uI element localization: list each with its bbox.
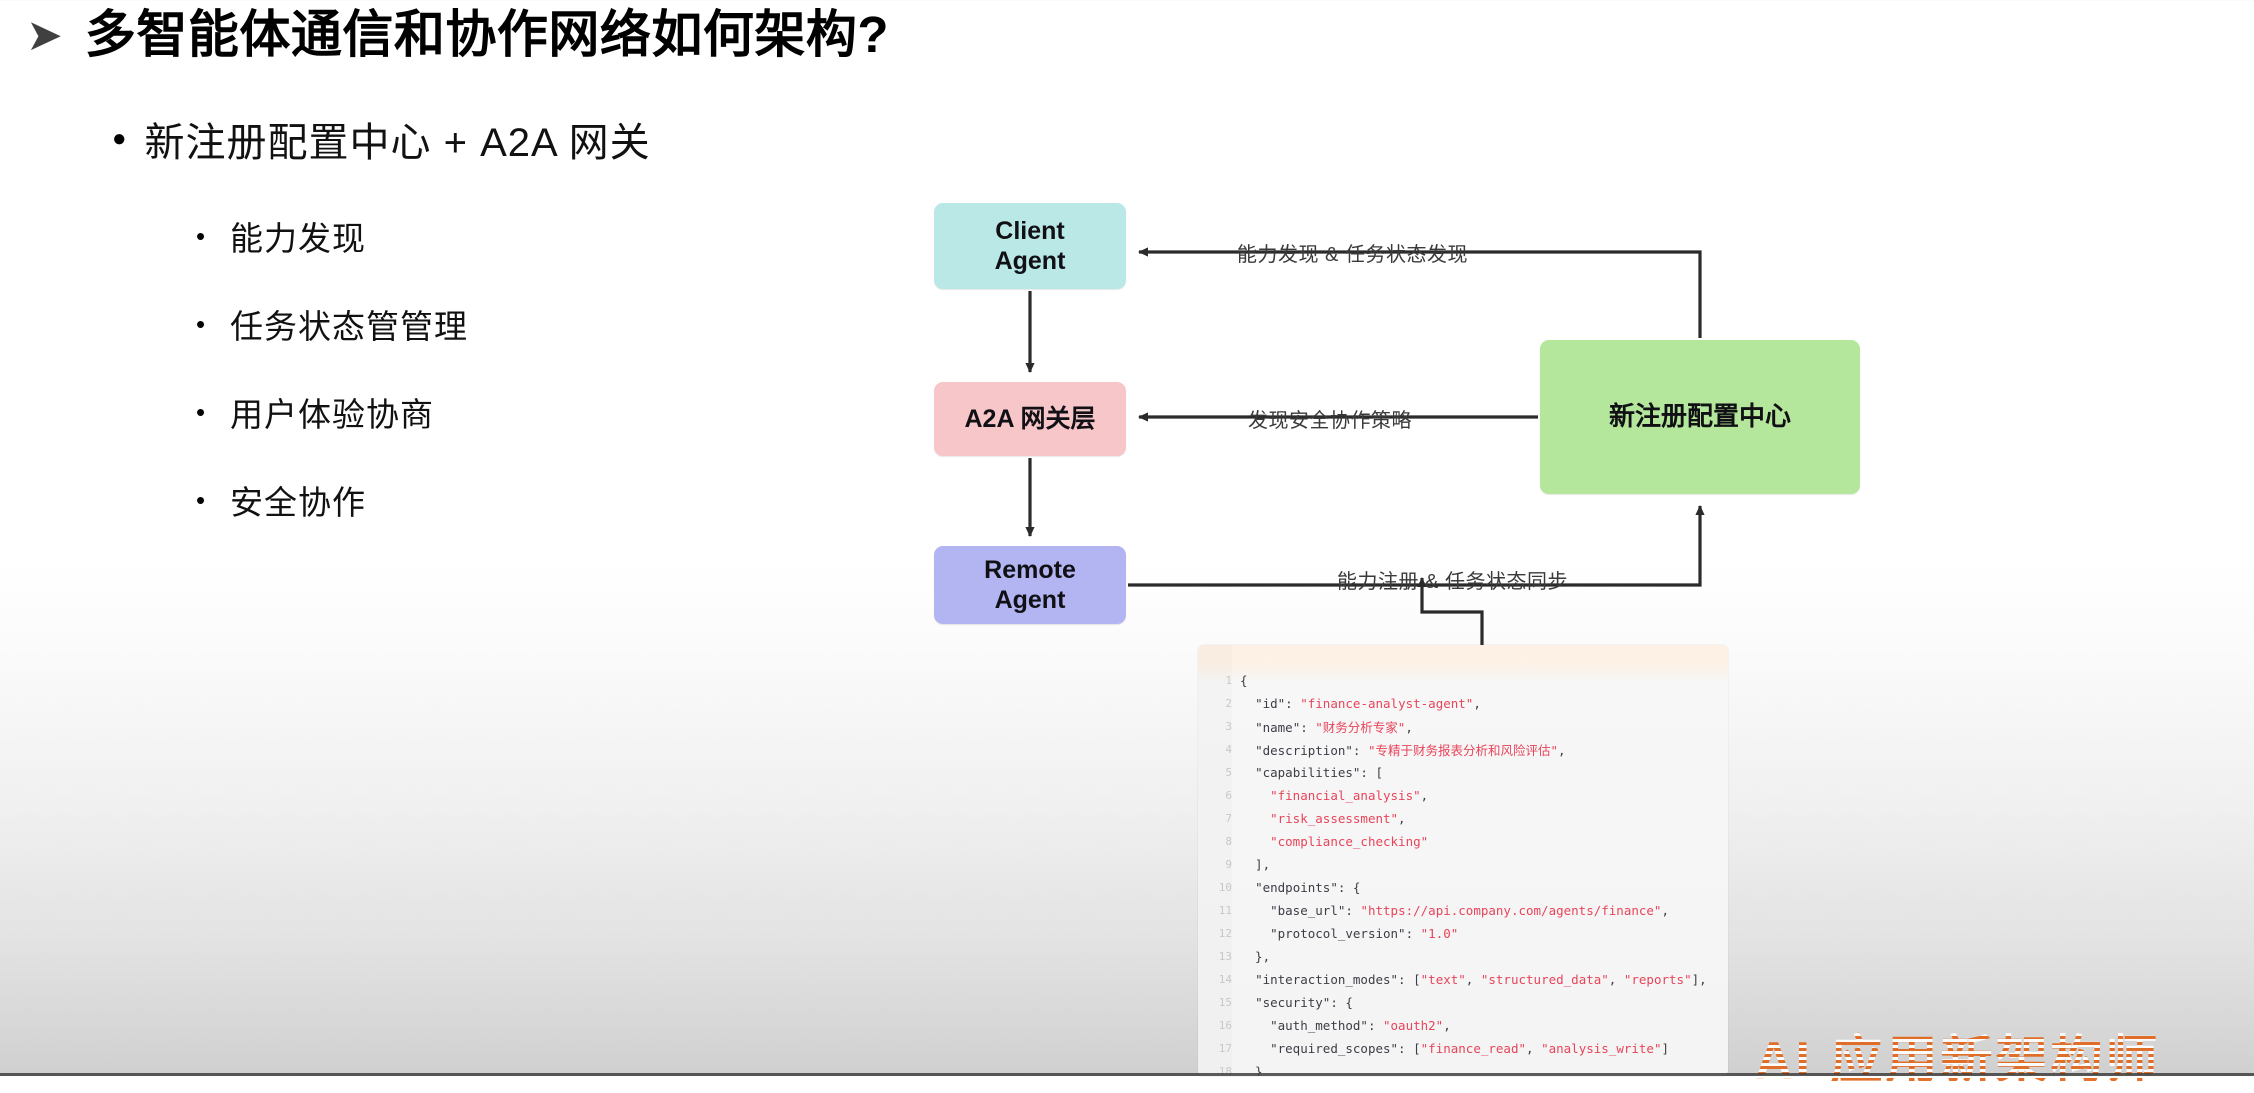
- code-line: 7 "risk_assessment",: [1198, 807, 1728, 830]
- code-line: 4 "description": "专精于财务报表分析和风险评估",: [1198, 738, 1728, 761]
- diagram-node-remote-agent[interactable]: Remote Agent: [934, 546, 1126, 624]
- code-line: 3 "name": "财务分析专家",: [1198, 715, 1728, 738]
- code-line-text: ],: [1240, 857, 1270, 872]
- code-line-text: "endpoints": {: [1240, 880, 1360, 895]
- code-line: 14 "interaction_modes": ["text", "struct…: [1198, 968, 1728, 991]
- code-line: 13 },: [1198, 945, 1728, 968]
- edge-label-capability-registration: 能力注册 & 任务状态同步: [1337, 565, 1568, 594]
- code-line-number: 15: [1198, 996, 1240, 1009]
- code-line-number: 5: [1198, 766, 1240, 779]
- architecture-diagram-connectors: [0, 0, 2254, 1076]
- diagram-node-client-agent[interactable]: Client Agent: [934, 203, 1126, 289]
- code-line-text: "financial_analysis",: [1240, 788, 1428, 803]
- code-line-number: 17: [1198, 1042, 1240, 1055]
- code-line-number: 10: [1198, 881, 1240, 894]
- code-line-number: 9: [1198, 858, 1240, 871]
- code-line-text: "interaction_modes": ["text", "structure…: [1240, 972, 1707, 987]
- code-line-number: 7: [1198, 812, 1240, 825]
- code-line-number: 3: [1198, 720, 1240, 733]
- code-line-number: 2: [1198, 697, 1240, 710]
- code-line: 15 "security": {: [1198, 991, 1728, 1014]
- diagram-node-label: 新注册配置中心: [1609, 401, 1791, 432]
- code-line-text: {: [1240, 673, 1248, 688]
- code-line: 12 "protocol_version": "1.0": [1198, 922, 1728, 945]
- code-line: 8 "compliance_checking": [1198, 830, 1728, 853]
- edge-label-capability-discovery: 能力发现 & 任务状态发现: [1237, 238, 1468, 267]
- diagram-node-a2a-gateway[interactable]: A2A 网关层: [934, 382, 1126, 456]
- code-line: 6 "financial_analysis",: [1198, 784, 1728, 807]
- code-line-text: "name": "财务分析专家",: [1240, 717, 1413, 736]
- code-line: 16 "auth_method": "oauth2",: [1198, 1014, 1728, 1037]
- code-line: 17 "required_scopes": ["finance_read", "…: [1198, 1037, 1728, 1060]
- code-line-text: "compliance_checking": [1240, 834, 1428, 849]
- code-line: 11 "base_url": "https://api.company.com/…: [1198, 899, 1728, 922]
- code-line-text: "id": "finance-analyst-agent",: [1240, 696, 1481, 711]
- code-line-number: 4: [1198, 743, 1240, 756]
- code-line-text: "auth_method": "oauth2",: [1240, 1018, 1451, 1033]
- code-line: 2 "id": "finance-analyst-agent",: [1198, 692, 1728, 715]
- code-line-text: "description": "专精于财务报表分析和风险评估",: [1240, 740, 1566, 759]
- code-line-number: 8: [1198, 835, 1240, 848]
- agent-card-json-panel[interactable]: 1{2 "id": "finance-analyst-agent",3 "nam…: [1198, 645, 1728, 1076]
- diagram-node-label: Remote Agent: [984, 555, 1076, 615]
- code-line: 9 ],: [1198, 853, 1728, 876]
- diagram-node-label: A2A 网关层: [964, 404, 1095, 434]
- code-line-text: "protocol_version": "1.0": [1240, 926, 1458, 941]
- edge-label-security-policy: 发现安全协作策略: [1248, 404, 1412, 433]
- diagram-node-registry-center[interactable]: 新注册配置中心: [1540, 340, 1860, 494]
- watermark-text: AI 应用新架构师: [1755, 1018, 2160, 1093]
- code-line: 5 "capabilities": [: [1198, 761, 1728, 784]
- code-line: 1{: [1198, 669, 1728, 692]
- code-line-number: 14: [1198, 973, 1240, 986]
- code-line-number: 12: [1198, 927, 1240, 940]
- code-line-number: 16: [1198, 1019, 1240, 1032]
- code-block: 1{2 "id": "finance-analyst-agent",3 "nam…: [1198, 669, 1728, 1076]
- code-line-number: 13: [1198, 950, 1240, 963]
- code-line-number: 6: [1198, 789, 1240, 802]
- code-line-number: 11: [1198, 904, 1240, 917]
- code-line-number: 1: [1198, 674, 1240, 687]
- code-line-text: },: [1240, 949, 1270, 964]
- code-line: 10 "endpoints": {: [1198, 876, 1728, 899]
- diagram-node-label: Client Agent: [995, 216, 1066, 276]
- slide-canvas: ➤ 多智能体通信和协作网络如何架构? ● 新注册配置中心 + A2A 网关 • …: [0, 0, 2254, 1076]
- code-line-text: "security": {: [1240, 995, 1353, 1010]
- code-line-text: "capabilities": [: [1240, 765, 1383, 780]
- code-line-text: "required_scopes": ["finance_read", "ana…: [1240, 1041, 1669, 1056]
- code-line-text: "base_url": "https://api.company.com/age…: [1240, 903, 1669, 918]
- code-line-text: "risk_assessment",: [1240, 811, 1406, 826]
